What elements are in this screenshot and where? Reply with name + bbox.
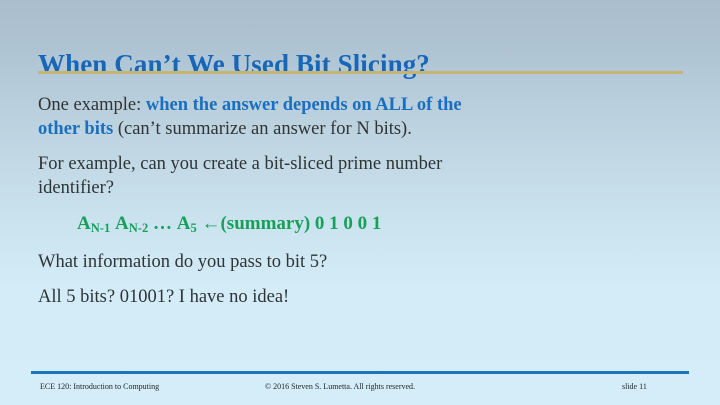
slide-footer: ECE 120: Introduction to Computing © 201… <box>0 382 720 398</box>
paragraph-prime-identifier: For example, can you create a bit-sliced… <box>38 152 508 200</box>
footer-copyright-label: © 2016 Steven S. Lumetta. All rights res… <box>265 382 415 391</box>
footer-divider <box>31 371 689 374</box>
paragraph-one-example: One example: when the answer depends on … <box>38 93 508 141</box>
paragraph-lead-text: One example: <box>38 95 146 115</box>
formula-summary-label: (summary) <box>220 213 310 234</box>
formula-term-2: AN-2 <box>115 213 148 234</box>
slide-title: When Can’t We Used Bit Slicing? <box>38 50 688 80</box>
question-pass-to-bit-5: What information do you pass to bit 5? <box>38 250 508 274</box>
formula-term-3-subscript: 5 <box>190 221 196 235</box>
question-all-5-bits: All 5 bits? 01001? I have no idea! <box>38 285 508 309</box>
title-divider <box>38 71 683 74</box>
formula-term-1-subscript: N-1 <box>91 221 111 235</box>
formula-term-1: AN-1 <box>77 213 110 234</box>
formula-term-2-subscript: N-2 <box>129 221 149 235</box>
slide-body: One example: when the answer depends on … <box>38 93 508 320</box>
footer-slide-number: slide 11 <box>622 382 647 391</box>
formula-term-3-base: A <box>177 213 191 234</box>
formula-left-arrow-icon: ← <box>201 213 220 234</box>
paragraph-tail-text: (can’t summarize an answer for N bits). <box>113 119 412 139</box>
formula-term-3: A5 <box>177 213 197 234</box>
bit-slice-formula: AN-1 AN-2 … A5 ←(summary) 0 1 0 0 1 <box>38 212 508 236</box>
slide-canvas: When Can’t We Used Bit Slicing? One exam… <box>0 0 720 405</box>
formula-term-1-base: A <box>77 213 91 234</box>
formula-ellipsis: … <box>153 213 172 234</box>
formula-term-2-base: A <box>115 213 129 234</box>
footer-course-label: ECE 120: Introduction to Computing <box>40 382 159 391</box>
formula-bit-string: 0 1 0 0 1 <box>315 213 382 234</box>
